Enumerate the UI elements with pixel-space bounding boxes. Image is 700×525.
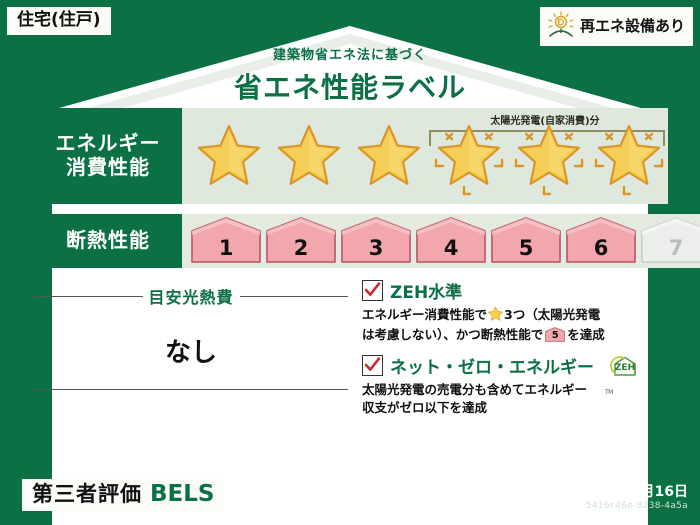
utility-cost-panel: 目安光熱費 なし <box>34 278 356 427</box>
insulation-level-number: 7 <box>640 236 700 260</box>
insulation-performance-label: 断熱性能 <box>34 214 182 268</box>
insulation-badge-number: 5 <box>545 329 565 344</box>
heading-rule-left <box>34 296 143 297</box>
renewable-tag-label: 再エネ設備あり <box>580 19 685 34</box>
insulation-level-3: 3 <box>340 216 412 266</box>
insulation-performance-body: 1234567 <box>182 214 700 268</box>
zeh-net-zero-description: 太陽光発電の売電分も含めてエネルギー収支がゼロ以下を達成 <box>362 381 666 417</box>
check-icon <box>364 356 381 374</box>
energy-label-line1: エネルギー <box>56 132 161 156</box>
insulation-level-number: 2 <box>265 236 337 260</box>
main-content: エネルギー 消費性能 太陽光発電(自家消費)分 断熱性能 1234567 目安光… <box>34 108 666 427</box>
evaluation-date: 評価日 2025年10月16日 <box>521 481 688 501</box>
insulation-level-6: 6 <box>565 216 637 266</box>
star-icon <box>590 108 668 204</box>
star-icon <box>488 306 503 326</box>
insulation-level-number: 5 <box>490 236 562 260</box>
insulation-level-number: 6 <box>565 236 637 260</box>
insulation-level-scale: 1234567 <box>182 214 700 268</box>
zeh-desc-part-c: は考慮しない）、かつ断熱性能で <box>362 327 543 342</box>
registration-number: 0285705-01 <box>238 487 328 503</box>
star-icon <box>430 108 508 204</box>
insulation-performance-row: 断熱性能 1234567 <box>34 214 666 268</box>
third-party-label: 第三者評価 <box>32 484 142 505</box>
insulation-level-5: 5 <box>490 216 562 266</box>
insulation-label-text: 断熱性能 <box>66 229 150 253</box>
insulation-level-number: 1 <box>190 236 262 260</box>
renewable-equipment-tag: 再エネ設備あり <box>539 6 694 47</box>
utility-cost-bottom-rule <box>34 389 348 390</box>
unit-number: 102 <box>336 487 363 503</box>
zeh-net-zero-checkbox[interactable] <box>362 355 383 376</box>
energy-performance-body: 太陽光発電(自家消費)分 <box>182 108 668 204</box>
bels-badge: 第三者評価 BELS <box>22 479 224 511</box>
utility-cost-heading-text: 目安光熱費 <box>149 284 234 308</box>
energy-performance-row: エネルギー 消費性能 太陽光発電(自家消費)分 <box>34 108 666 204</box>
zeh-panel: ZEH水準 エネルギー消費性能で3つ（太陽光発電は考慮しない）、かつ断熱性能で5… <box>356 278 666 427</box>
zeh-desc-part-a: エネルギー消費性能で <box>362 307 487 322</box>
zeh-standard-header: ZEH水準 <box>362 278 666 303</box>
heading-rule-right <box>240 296 349 297</box>
zeh-net-zero-title: ネット・ゼロ・エネルギー <box>390 353 594 378</box>
star-icon <box>510 108 588 204</box>
zeh-standard-checkbox[interactable] <box>362 280 383 301</box>
document-hash: 5416c46e-8238-4a5a <box>586 501 688 511</box>
utility-cost-heading: 目安光熱費 <box>34 284 348 308</box>
star-rating <box>182 108 668 204</box>
svg-text:ZEH: ZEH <box>615 363 635 373</box>
insulation-badge-icon: 5 <box>545 327 565 342</box>
net-zero-desc-a: 太陽光発電の売電分も含めてエネルギー <box>362 382 587 397</box>
insulation-level-2: 2 <box>265 216 337 266</box>
zeh-net-zero-header: ネット・ゼロ・エネルギー ZEH ТМ <box>362 353 666 378</box>
zeh-standard-title: ZEH水準 <box>390 278 462 303</box>
building-type-tag: 住宅(住戸) <box>6 6 112 36</box>
zeh-logo-icon: ZEH ТМ <box>605 355 651 377</box>
energy-label-line2: 消費性能 <box>66 156 150 180</box>
insulation-level-number: 4 <box>415 236 487 260</box>
star-icon <box>190 108 268 204</box>
footer: 第三者評価 BELS 0285705-01 102 評価日 2025年10月16… <box>0 473 700 525</box>
lower-section: 目安光熱費 なし ZEH水準 エネルギー消費性能で3つ（太陽光発電は考 <box>34 278 666 427</box>
net-zero-desc-b: 収支がゼロ以下を達成 <box>362 400 487 415</box>
insulation-level-1: 1 <box>190 216 262 266</box>
insulation-level-7: 7 <box>640 216 700 266</box>
page-title: 省エネ性能ラベル <box>0 66 700 106</box>
insulation-level-number: 3 <box>340 236 412 260</box>
zeh-desc-part-b: 3つ（太陽光発電 <box>504 307 600 322</box>
zeh-item-net-zero: ネット・ゼロ・エネルギー ZEH ТМ 太陽光発電の売電分も含めてエネルギー収支… <box>362 353 666 417</box>
zeh-logo-tm: ТМ <box>605 389 613 396</box>
star-icon <box>270 108 348 204</box>
energy-performance-label: エネルギー 消費性能 <box>34 108 182 204</box>
check-icon <box>364 281 381 299</box>
utility-cost-value: なし <box>34 308 348 387</box>
bels-label: BELS <box>150 483 214 506</box>
star-icon <box>350 108 428 204</box>
zeh-desc-part-d: を達成 <box>567 327 605 342</box>
sun-solar-icon <box>546 11 576 42</box>
insulation-level-4: 4 <box>415 216 487 266</box>
zeh-standard-description: エネルギー消費性能で3つ（太陽光発電は考慮しない）、かつ断熱性能で5を達成 <box>362 306 666 344</box>
zeh-item-standard: ZEH水準 エネルギー消費性能で3つ（太陽光発電は考慮しない）、かつ断熱性能で5… <box>362 278 666 344</box>
title-block: 建築物省エネ法に基づく 省エネ性能ラベル <box>0 44 700 106</box>
